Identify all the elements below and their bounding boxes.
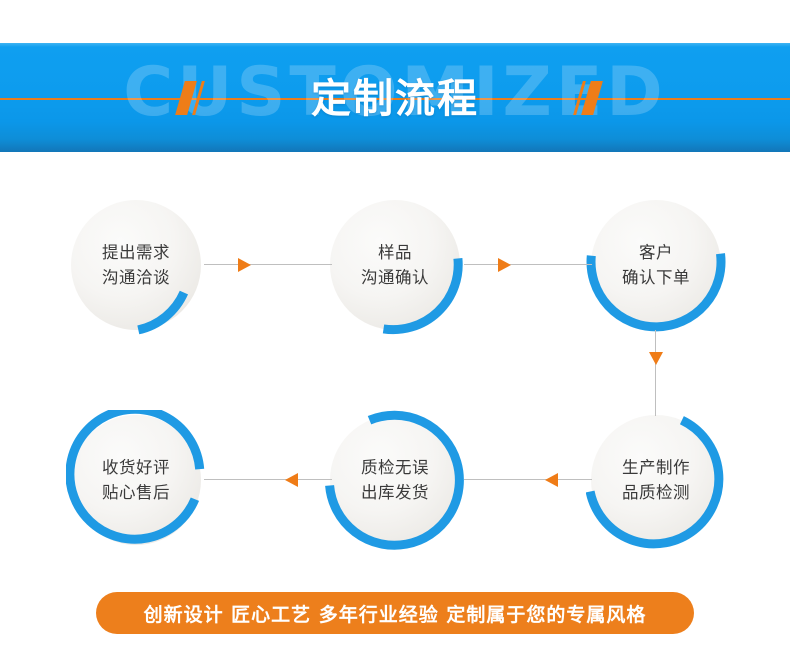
page-title: 定制流程 (0, 79, 790, 119)
step-label-line2: 出库发货 (361, 481, 429, 505)
footer-slogan-text: 创新设计 匠心工艺 多年行业经验 定制属于您的专属风格 (144, 600, 647, 627)
step-label: 质检无误 出库发货 (330, 415, 460, 545)
flow-step-6[interactable]: 收货好评 贴心售后 (71, 415, 201, 545)
step-label-line1: 提出需求 (102, 241, 170, 265)
step-label-line2: 沟通确认 (361, 266, 429, 290)
step-label: 收货好评 贴心售后 (71, 415, 201, 545)
flow-step-1[interactable]: 提出需求 沟通洽谈 (71, 200, 201, 330)
connector-step4-to-step5 (464, 473, 592, 487)
step-label-line1: 收货好评 (102, 456, 170, 480)
step-label-line1: 样品 (378, 241, 412, 265)
step-label: 生产制作 品质检测 (591, 415, 721, 545)
step-label-line1: 生产制作 (622, 456, 690, 480)
flow-step-4[interactable]: 生产制作 品质检测 (591, 415, 721, 545)
flow-step-2[interactable]: 样品 沟通确认 (330, 200, 460, 330)
step-label-line2: 确认下单 (622, 266, 690, 290)
step-label: 提出需求 沟通洽谈 (71, 200, 201, 330)
step-label-line2: 沟通洽谈 (102, 266, 170, 290)
flow-step-3[interactable]: 客户 确认下单 (591, 200, 721, 330)
flow-step-5[interactable]: 质检无误 出库发货 (330, 415, 460, 545)
connector-step2-to-step3 (464, 258, 592, 272)
step-label-line2: 贴心售后 (102, 481, 170, 505)
step-label: 样品 沟通确认 (330, 200, 460, 330)
process-flow-diagram: 提出需求 沟通洽谈 样品 沟通确认 客户 确认下单 (0, 152, 790, 557)
connector-step1-to-step2 (204, 258, 332, 272)
customization-process-page: CUSTOMIZED 定制流程 提出需求 沟通洽谈 (0, 0, 790, 666)
step-label-line1: 质检无误 (361, 456, 429, 480)
step-label-line2: 品质检测 (622, 481, 690, 505)
connector-step5-to-step6 (204, 473, 332, 487)
step-label-line1: 客户 (639, 241, 673, 265)
step-label: 客户 确认下单 (591, 200, 721, 330)
footer-slogan-banner: 创新设计 匠心工艺 多年行业经验 定制属于您的专属风格 (96, 592, 694, 634)
page-header-banner: CUSTOMIZED 定制流程 (0, 43, 790, 152)
connector-step3-to-step4 (649, 330, 663, 416)
